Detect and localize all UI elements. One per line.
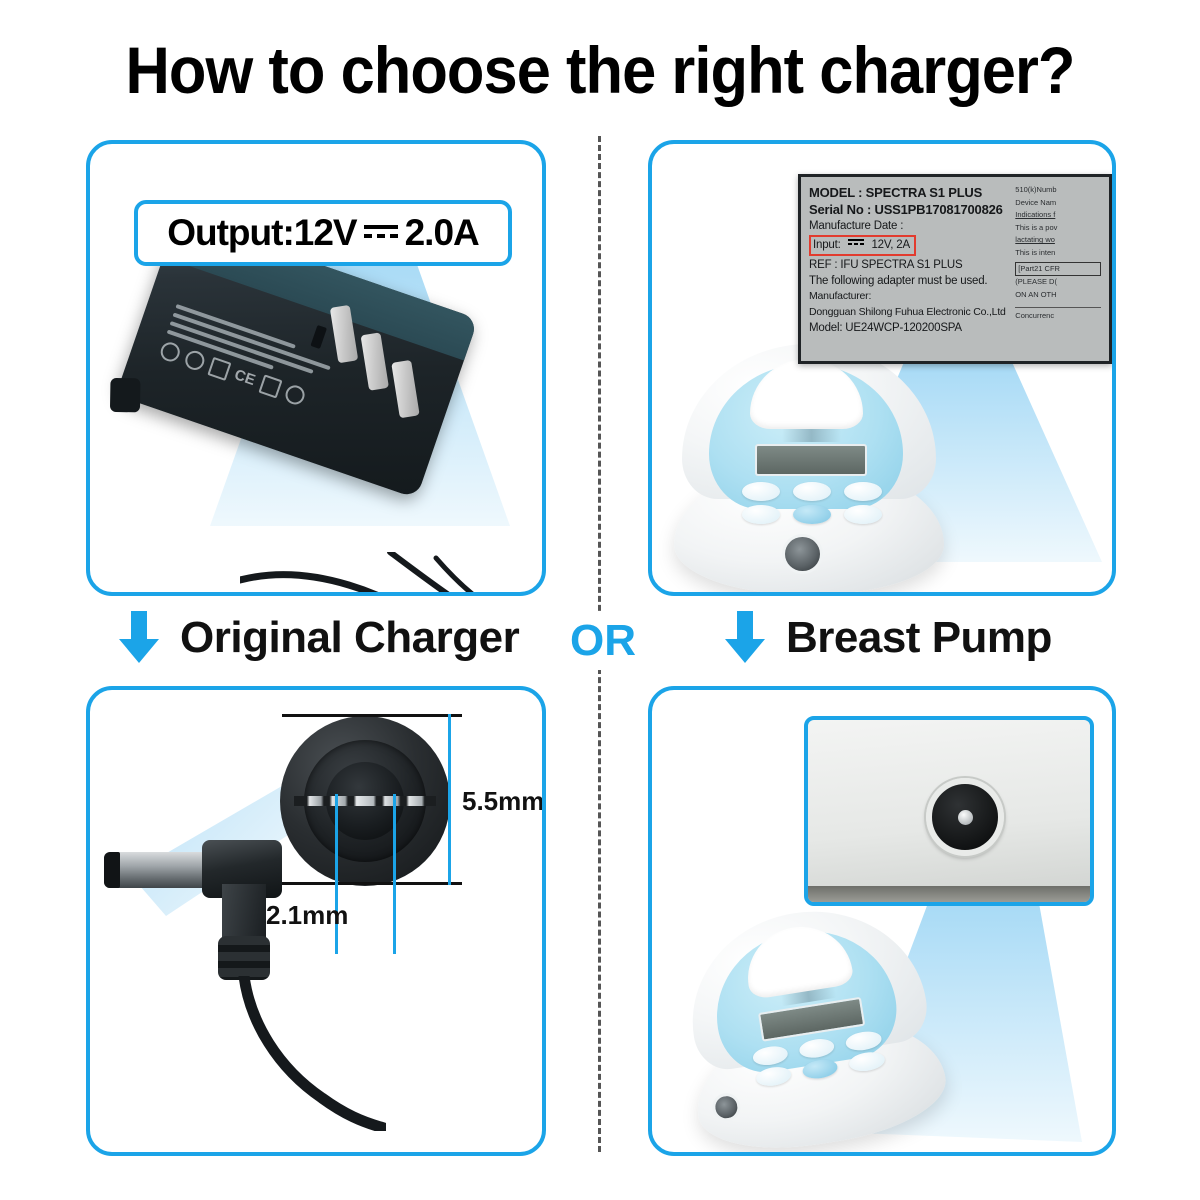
output-suffix-text: 2.0A [405,212,479,254]
label-serial-line: Serial No : USS1PB17081700826 [809,201,1009,218]
input-spec-highlight: Input: 12V, 2A [809,235,916,256]
panel-original-charger: Output:12V 2.0A CE [86,140,546,596]
dc-input-socket [926,778,1004,856]
caption-text: Breast Pump [786,613,1052,663]
dim-leader-inner-right [393,794,396,954]
label-right-column: 510(k)Numb Device Nam Indications f This… [1015,184,1101,336]
label-right-line: Concurrenc [1015,307,1101,323]
plug-cable [236,976,386,1131]
label-ref-line: REF : IFU SPECTRA S1 PLUS [809,257,1009,273]
panel-breast-pump-label: MODEL : SPECTRA S1 PLUS Serial No : USS1… [648,140,1116,596]
label-manufacturer-label: Manufacturer: [809,289,1009,305]
label-right-line: This is a pov [1015,222,1101,235]
output-spec-badge: Output:12V 2.0A [134,200,512,266]
label-right-line: 510(k)Numb [1015,184,1101,197]
label-right-line: lactating wo [1015,234,1101,247]
inner-diameter-text: 2.1mm [266,900,348,931]
breast-pump-device-photo [674,344,944,594]
caption-breast-pump: Breast Pump [722,606,1052,670]
pump-power-button [793,505,831,524]
label-manufacturer-name: Dongguan Shilong Fuhua Electronic Co.,Lt… [809,305,1009,321]
product-rating-label: MODEL : SPECTRA S1 PLUS Serial No : USS1… [798,174,1112,364]
breast-pump-device-photo-angled [669,894,952,1156]
down-arrow-icon [722,611,768,665]
panel-pump-port [648,686,1116,1156]
dc-icon [364,225,398,238]
label-right-line: Device Nam [1015,197,1101,210]
label-adapter-model: Model: UE24WCP-120200SPA [809,320,1009,336]
caption-original-charger: Original Charger [116,606,519,670]
label-manufacture-date-line: Manufacture Date : [809,218,1009,234]
or-separator-label: OR [570,612,630,670]
label-right-line: This is inten [1015,247,1101,260]
label-model-line: MODEL : SPECTRA S1 PLUS [809,184,1009,201]
label-right-line: [Part21 CFR [1015,262,1101,277]
pump-control-buttons [742,482,882,525]
pump-dc-input-port [782,534,823,574]
label-right-line: ON AN OTH [1015,289,1101,302]
dim-leader-top [282,714,462,717]
outer-diameter-text: 5.5mm [462,786,544,817]
label-right-line: Indications f [1015,209,1101,222]
dim-leader-bottom [282,882,462,885]
label-left-column: MODEL : SPECTRA S1 PLUS Serial No : USS1… [809,184,1009,336]
adapter-power-cord [240,552,540,596]
down-arrow-icon [116,611,162,665]
label-adapter-note: The following adapter must be used. [809,273,1009,289]
pump-lcd-display [755,444,867,476]
label-right-line: (PLEASE D( [1015,276,1101,289]
dim-measure-outer [448,714,451,885]
output-prefix-text: Output:12V [167,212,356,254]
panel-connector-dimensions: 5.5mm 2.1mm [86,686,546,1156]
caption-text: Original Charger [180,613,519,663]
label-input-text: Input: [813,239,841,251]
page-title: How to choose the right charger? [42,32,1158,108]
label-input-value: 12V, 2A [871,239,909,251]
dc-port-closeup-photo [804,716,1094,906]
dc-icon [848,239,864,245]
